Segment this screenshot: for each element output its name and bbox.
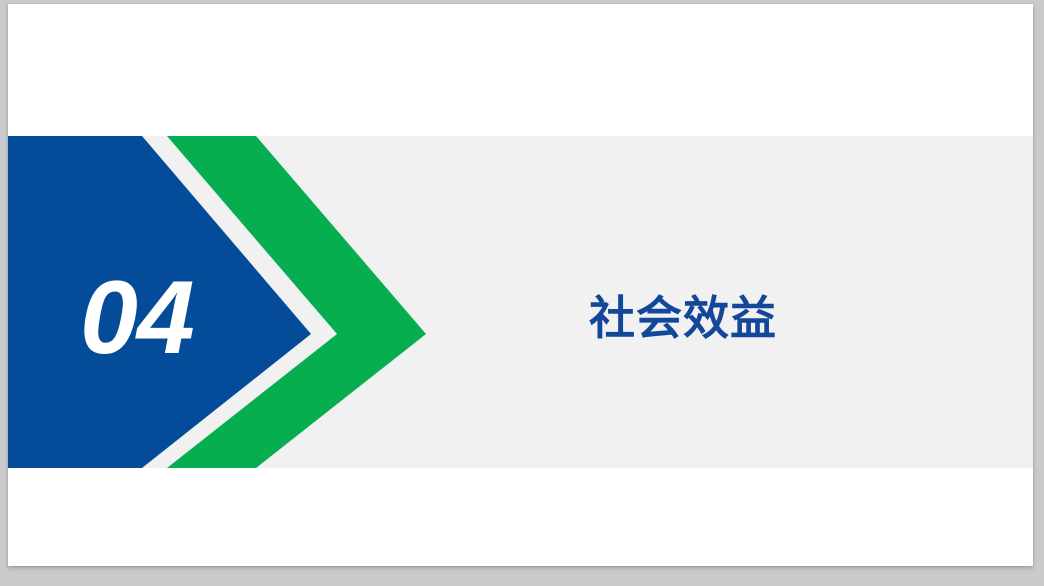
slide-canvas: 04 社会效益 — [8, 4, 1033, 566]
section-index-number: 04 — [80, 266, 230, 370]
section-title: 社会效益 — [589, 291, 777, 346]
presentation-viewer: 04 社会效益 — [0, 0, 1044, 586]
